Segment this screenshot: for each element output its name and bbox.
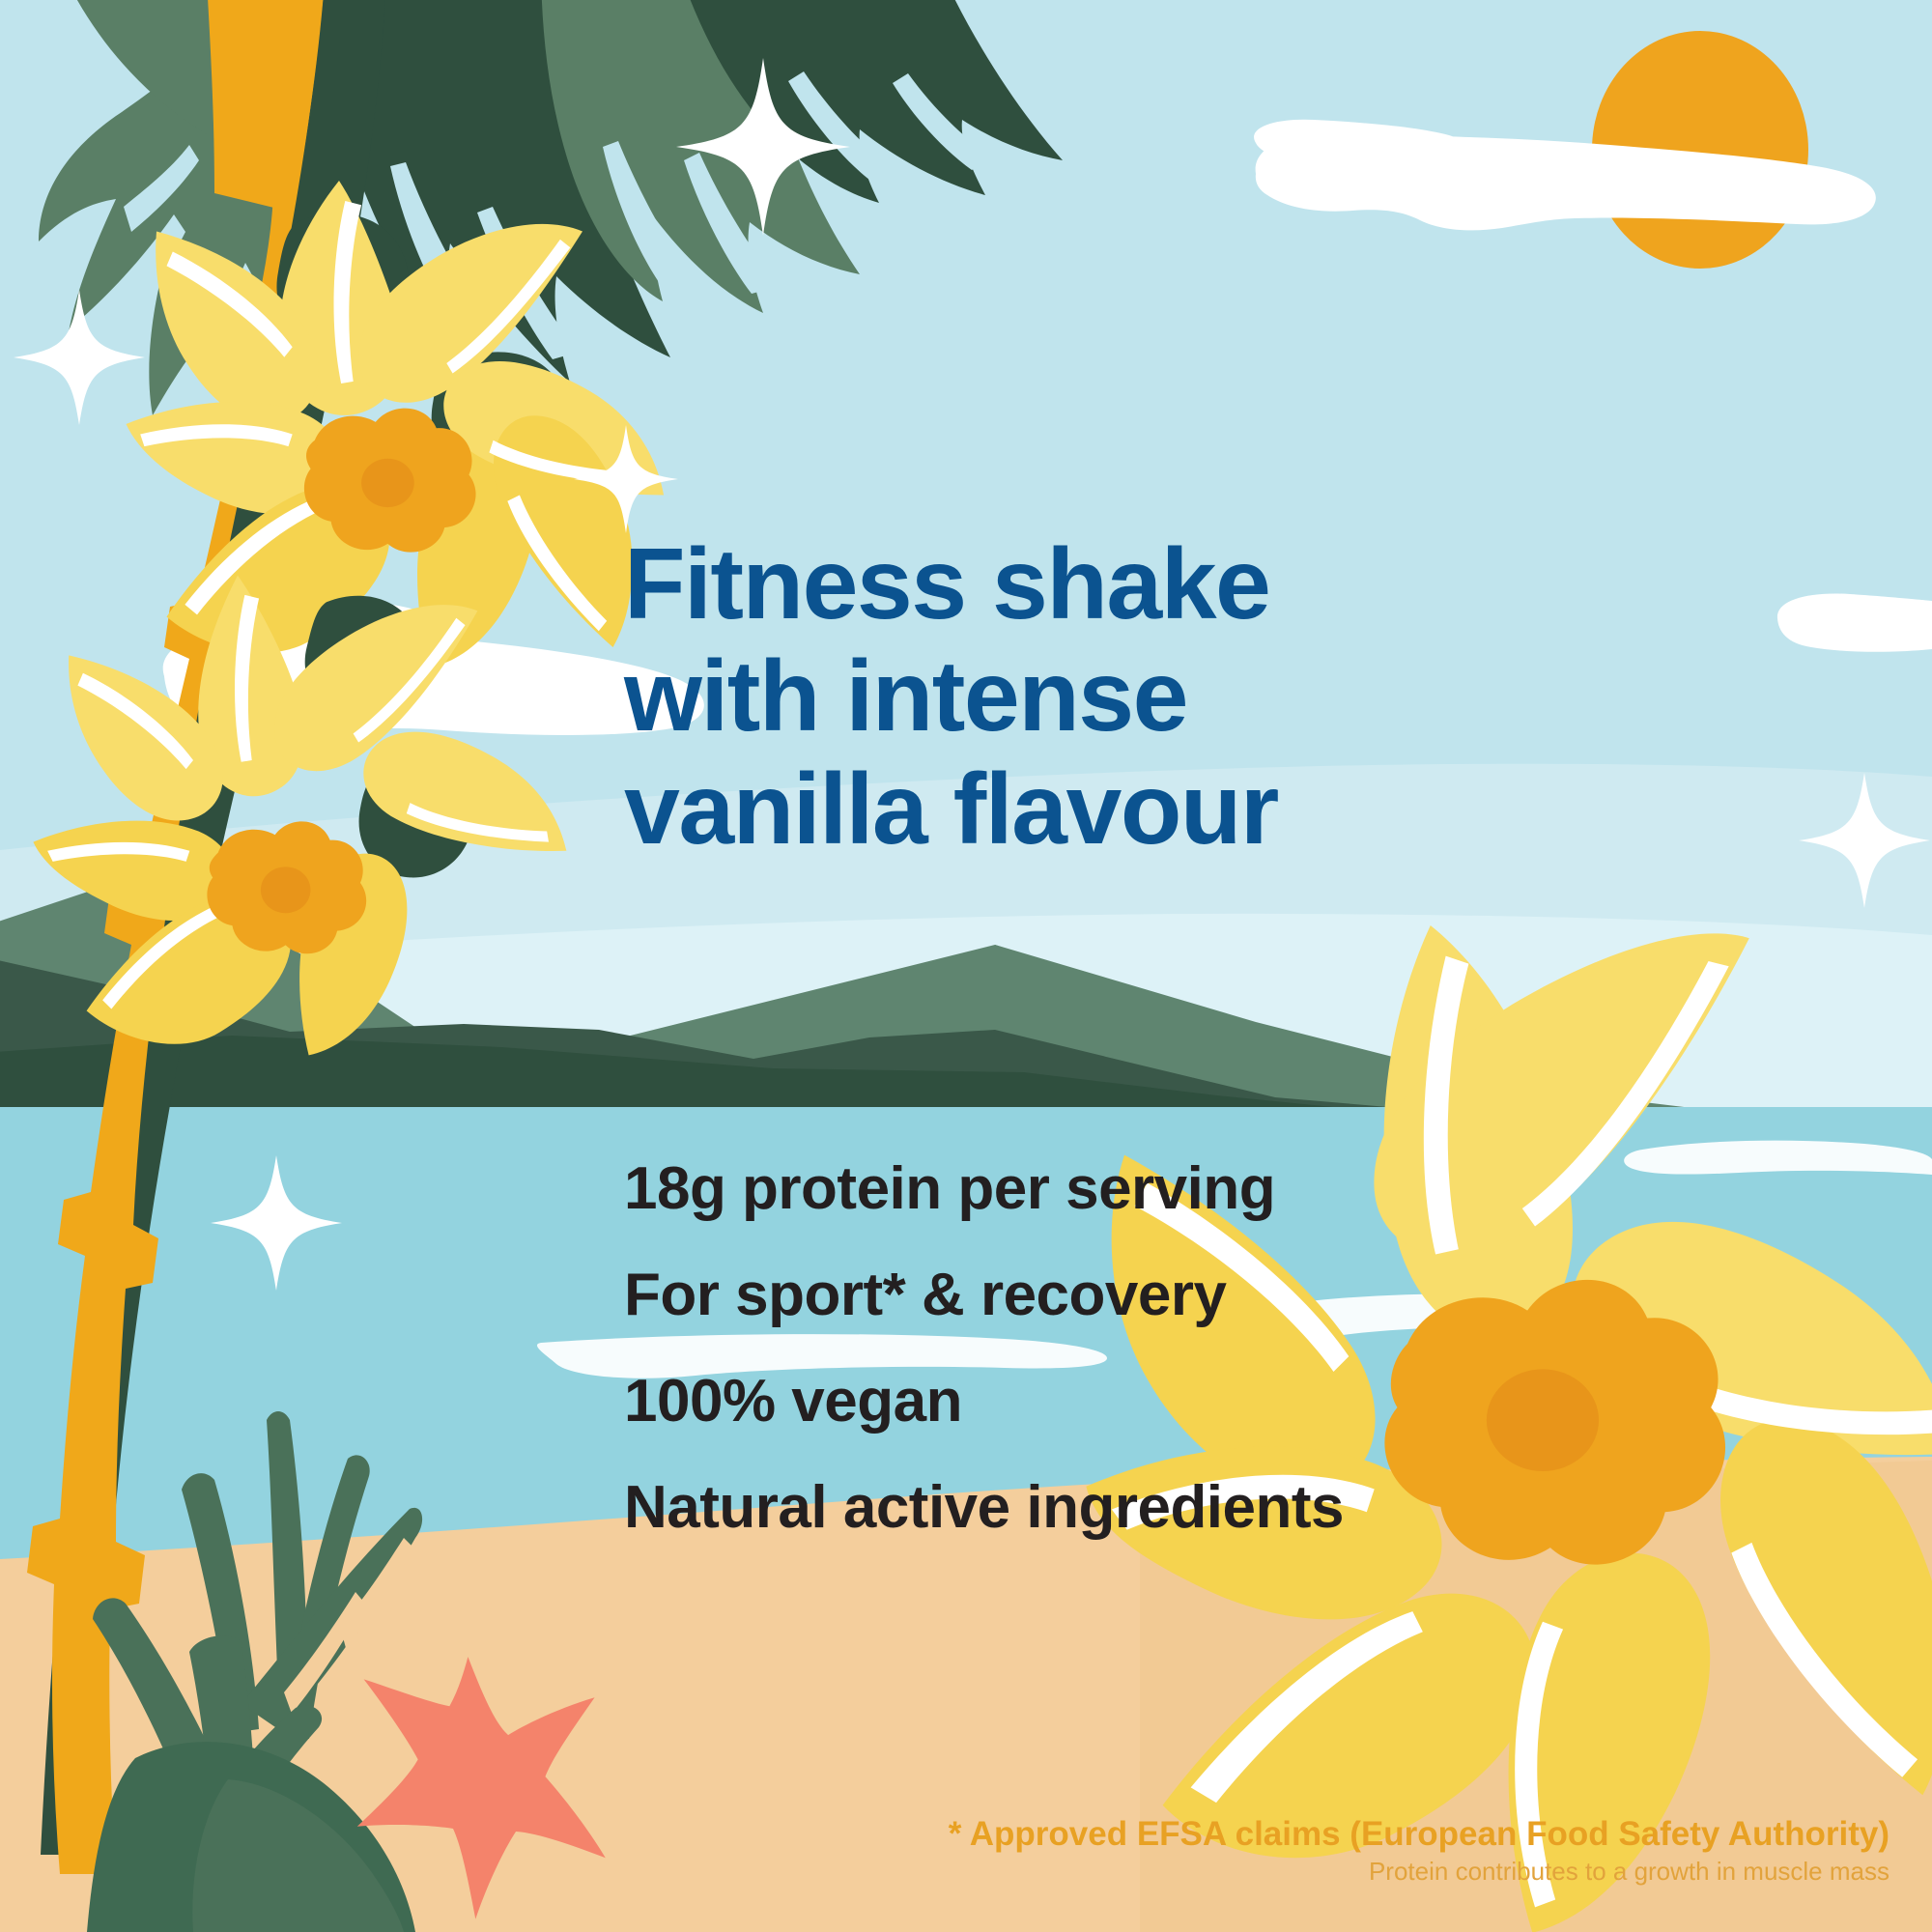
- footnote: * Approved EFSA claims (European Food Sa…: [0, 1816, 1889, 1889]
- list-item: For sport* & recovery: [624, 1265, 1609, 1325]
- list-item: 100% vegan: [624, 1372, 1609, 1432]
- page-title: Fitness shake with intense vanilla flavo…: [624, 528, 1590, 866]
- poster-canvas: Fitness shake with intense vanilla flavo…: [0, 0, 1932, 1932]
- list-item: 18g protein per serving: [624, 1159, 1609, 1219]
- benefits-list: 18g protein per serving For sport* & rec…: [624, 1159, 1609, 1584]
- footnote-secondary: Protein contributes to a growth in muscl…: [0, 1854, 1889, 1890]
- footnote-primary: * Approved EFSA claims (European Food Sa…: [0, 1816, 1889, 1854]
- text-layer: Fitness shake with intense vanilla flavo…: [0, 0, 1932, 1932]
- list-item: Natural active ingredients: [624, 1478, 1609, 1538]
